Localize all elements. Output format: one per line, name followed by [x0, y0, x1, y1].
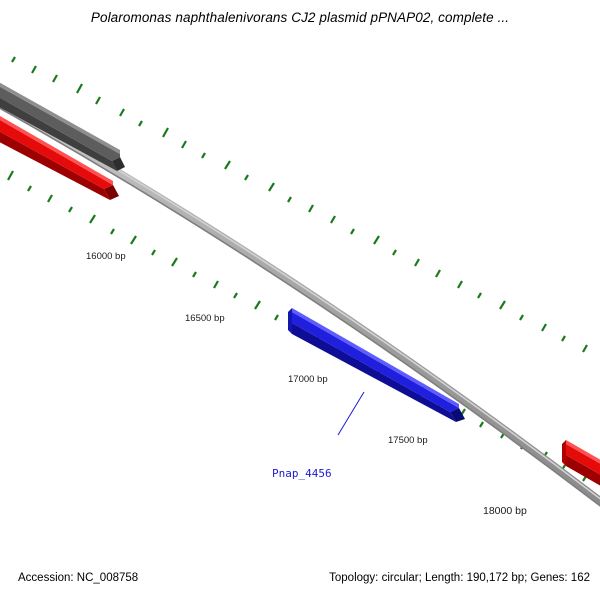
status-sequence-info: Topology: circular; Length: 190,172 bp; … [329, 572, 590, 584]
page-title: Polaromonas naphthalenivorans CJ2 plasmi… [0, 10, 600, 25]
gene-label-leader-line [338, 392, 364, 435]
scale-label-16000: 16000 bp [86, 251, 126, 262]
scale-label-17500: 17500 bp [388, 435, 428, 446]
feature-blue[interactable] [288, 308, 465, 422]
gene-tick-group-upper [12, 57, 587, 352]
gene-label-pnap-4456[interactable]: Pnap_4456 [272, 467, 332, 480]
title-bar: Polaromonas naphthalenivorans CJ2 plasmi… [0, 0, 600, 40]
scale-label-17000: 17000 bp [288, 374, 328, 385]
status-bar: Accession: NC_008758 Topology: circular;… [0, 550, 600, 600]
genome-map-canvas[interactable]: Pnap_4456 16000 bp 16500 bp 17000 bp 175… [0, 40, 600, 550]
genome-backbone[interactable] [0, 98, 600, 506]
scale-label-16500: 16500 bp [185, 313, 225, 324]
scale-label-18000: 18000 bp [483, 505, 527, 517]
genome-viewer-window: Polaromonas naphthalenivorans CJ2 plasmi… [0, 0, 600, 600]
status-accession: Accession: NC_008758 [18, 572, 138, 584]
